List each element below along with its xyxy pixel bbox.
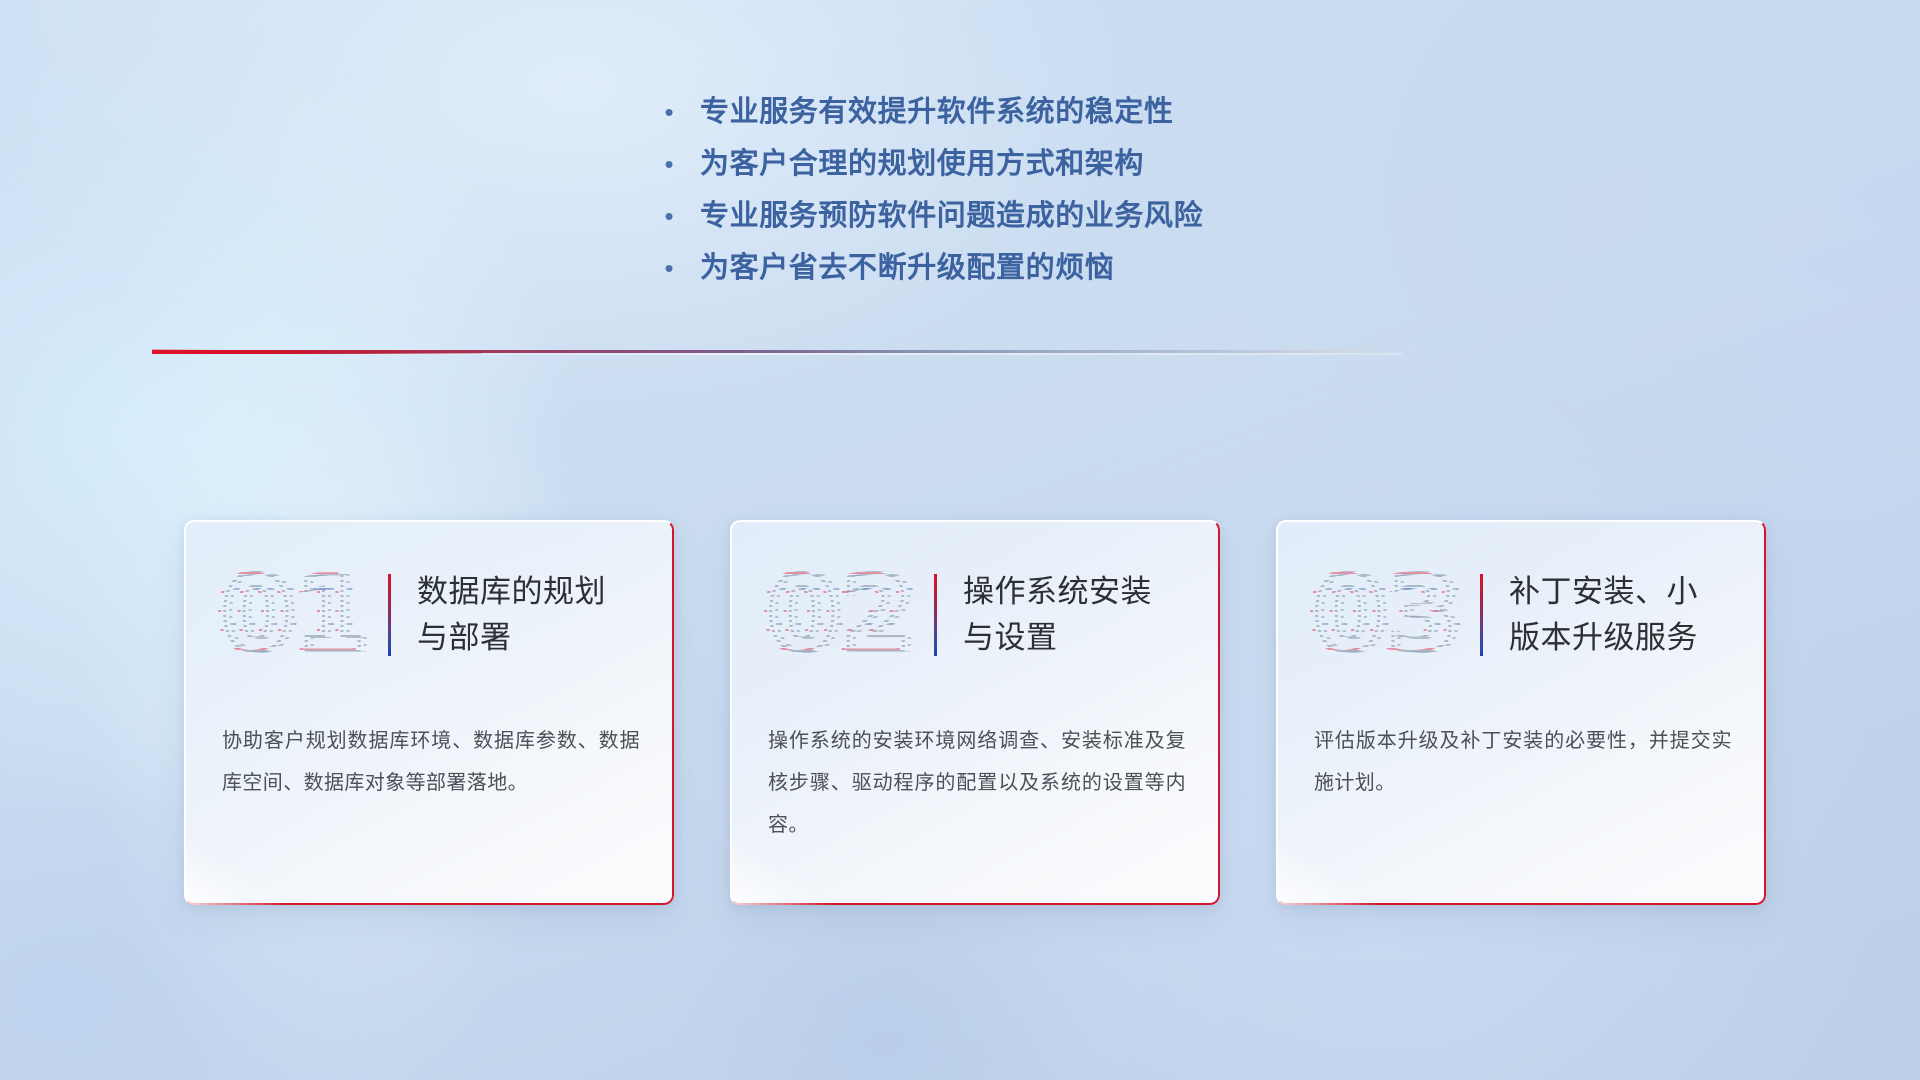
section-divider (152, 344, 1420, 362)
card-header: 02 02 02 02 操作系统安装 与设置 (730, 520, 1220, 710)
card-description: 协助客户规划数据库环境、数据库参数、数据库空间、数据库对象等部署落地。 (222, 720, 640, 804)
bullet-text: 为客户省去不断升级配置的烦恼 (700, 248, 1114, 288)
bullet-text: 专业服务有效提升软件系统的稳定性 (700, 92, 1174, 132)
card-description: 评估版本升级及补丁安装的必要性，并提交实施计划。 (1314, 720, 1732, 804)
list-item: • 专业服务有效提升软件系统的稳定性 (660, 92, 1203, 144)
list-item: • 为客户合理的规划使用方式和架构 (660, 144, 1203, 196)
benefits-bullet-list: • 专业服务有效提升软件系统的稳定性 • 为客户合理的规划使用方式和架构 • 专… (660, 92, 1203, 300)
card-number-blue-scanline: 02 (763, 555, 935, 675)
card-header: 01 01 01 01 数据库的规划 与部署 (184, 520, 674, 710)
card-number-glitch: 03 03 03 03 (1300, 555, 1472, 675)
card-title: 补丁安装、小 版本升级服务 (1509, 569, 1710, 661)
card-header: 03 03 03 03 补丁安装、小 版本升级服务 (1276, 520, 1766, 710)
card-number-blue-scanline: 01 (217, 555, 389, 675)
bullet-dot-icon: • (660, 196, 678, 236)
list-item: • 专业服务预防软件问题造成的业务风险 (660, 196, 1203, 248)
card-number-blue-scanline: 03 (1309, 555, 1481, 675)
bullet-dot-icon: • (660, 144, 678, 184)
card-number-glitch: 02 02 02 02 (754, 555, 926, 675)
service-card-group: 01 01 01 01 数据库的规划 与部署 协助客户规划数据库环境、数据库参数… (184, 520, 1766, 905)
service-card-01[interactable]: 01 01 01 01 数据库的规划 与部署 协助客户规划数据库环境、数据库参数… (184, 520, 674, 905)
bullet-text: 为客户合理的规划使用方式和架构 (700, 144, 1144, 184)
divider-highlight (292, 353, 1402, 355)
card-title: 操作系统安装 与设置 (963, 569, 1164, 661)
bullet-dot-icon: • (660, 92, 678, 132)
service-card-03[interactable]: 03 03 03 03 补丁安装、小 版本升级服务 评估版本升级及补丁安装的必要… (1276, 520, 1766, 905)
slide-canvas: • 专业服务有效提升软件系统的稳定性 • 为客户合理的规划使用方式和架构 • 专… (0, 0, 1920, 1080)
card-description: 操作系统的安装环境网络调查、安装标准及复核步骤、驱动程序的配置以及系统的设置等内… (768, 720, 1186, 846)
card-number-glitch: 01 01 01 01 (208, 555, 380, 675)
bullet-dot-icon: • (660, 248, 678, 288)
card-title: 数据库的规划 与部署 (417, 569, 618, 661)
list-item: • 为客户省去不断升级配置的烦恼 (660, 248, 1203, 300)
bullet-text: 专业服务预防软件问题造成的业务风险 (700, 196, 1203, 236)
service-card-02[interactable]: 02 02 02 02 操作系统安装 与设置 操作系统的安装环境网络调查、安装标… (730, 520, 1220, 905)
